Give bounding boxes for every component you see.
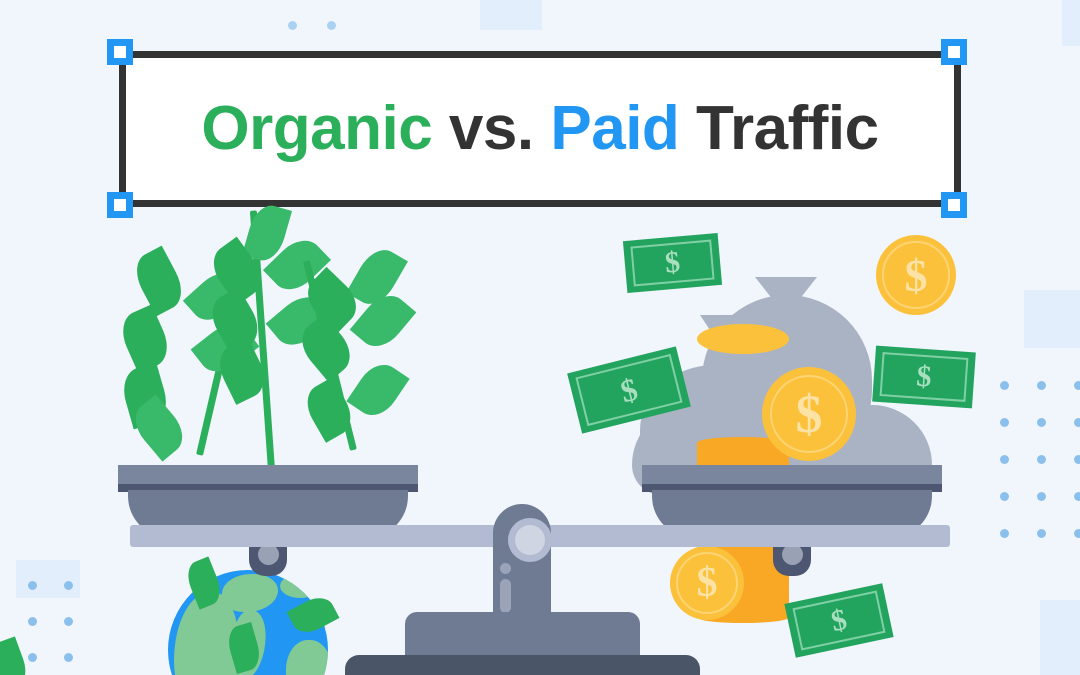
plant-leaf (346, 356, 409, 423)
gold-coin-top-right: $ (876, 235, 956, 315)
selection-handle-top-left[interactable] (107, 39, 133, 65)
title-word-vs: vs. (449, 94, 534, 163)
decor-dot (288, 21, 297, 30)
balance-scale-illustration: $ $ $ $ $ $ $ (0, 215, 1080, 675)
gold-coin-large: $ (762, 367, 856, 461)
dollar-symbol: $ (915, 360, 932, 395)
dollar-bill-right: $ (872, 346, 976, 409)
dollar-symbol: $ (828, 602, 850, 638)
plant-leaf (115, 304, 175, 373)
falling-leaf (0, 636, 31, 675)
scale-base-plinth (345, 655, 700, 675)
selection-handle-bottom-right[interactable] (941, 192, 967, 218)
title-word-organic: Organic (201, 94, 432, 163)
dollar-symbol: $ (697, 559, 718, 607)
title-word-traffic: Traffic (696, 94, 879, 163)
pan-rim (118, 465, 418, 484)
title-word-paid: Paid (550, 94, 679, 163)
dollar-symbol: $ (905, 249, 928, 302)
globe-landmass (286, 640, 328, 675)
decor-rect-top (480, 0, 542, 30)
dollar-bill-bottom: $ (784, 583, 893, 658)
selection-handle-top-right[interactable] (941, 39, 967, 65)
decor-rect-top-right (1062, 0, 1080, 46)
gold-coin-bottom: $ (670, 546, 744, 620)
pan-rim (642, 465, 942, 484)
dollar-symbol: $ (617, 370, 641, 410)
coin-stack-top (697, 324, 789, 354)
dollar-bill-top-left: $ (623, 233, 722, 293)
dollar-symbol: $ (796, 383, 823, 445)
scale-pivot-pill (500, 579, 511, 613)
globe-landmass (222, 574, 278, 612)
title-text-box[interactable]: Organic vs. Paid Traffic (119, 51, 961, 207)
decor-dot (327, 21, 336, 30)
scale-pivot-bearing (508, 518, 552, 562)
dollar-symbol: $ (664, 245, 682, 280)
globe-landmass (280, 574, 320, 598)
page-title: Organic vs. Paid Traffic (201, 98, 878, 160)
scale-pivot-dot (500, 563, 511, 574)
illustration-canvas: Organic vs. Paid Traffic (0, 0, 1080, 675)
selection-handle-bottom-left[interactable] (107, 192, 133, 218)
plant-leaf (128, 246, 190, 317)
